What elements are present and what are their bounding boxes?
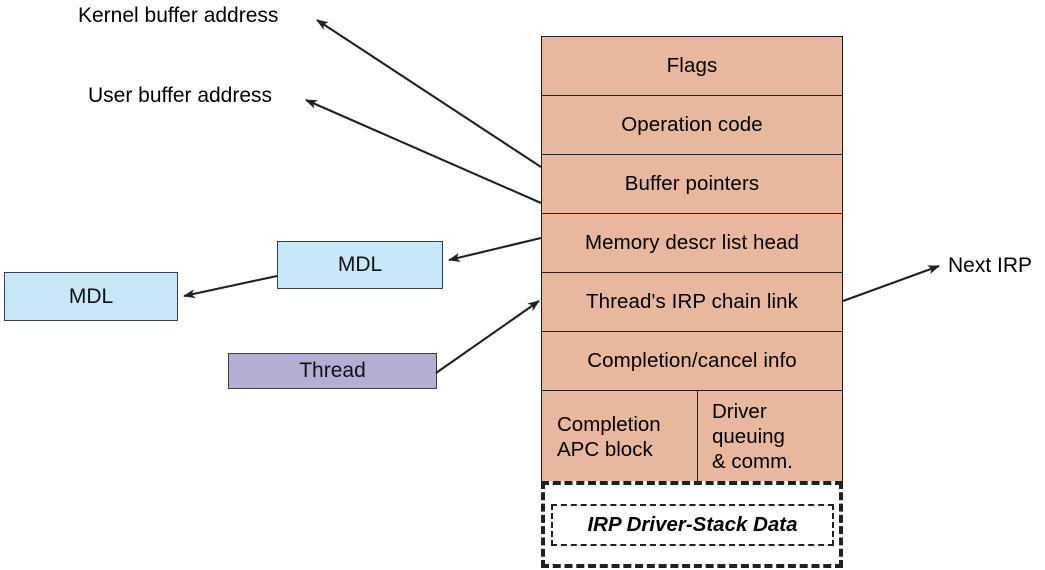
mdl-box-right: MDL — [277, 241, 443, 289]
driver-queuing-line1: Driver — [712, 399, 793, 424]
completion-apc-block-line1: Completion — [557, 412, 661, 437]
diagram-canvas: Flags Operation code Buffer pointers Mem… — [0, 0, 1045, 570]
mdl-box-right-label: MDL — [338, 253, 382, 277]
driver-queuing-line3: & comm. — [712, 449, 793, 474]
user-buffer-address-label: User buffer address — [88, 84, 272, 108]
irp-field-operation-code: Operation code — [541, 95, 843, 154]
mdl-box-left: MDL — [4, 272, 178, 321]
irp-field-completion-apc-block: Completion APC block — [542, 391, 698, 482]
arrow-memory-descr-list-head-to-mdl — [449, 238, 541, 260]
irp-field-thread-irp-chain-link: Thread's IRP chain link — [541, 272, 843, 331]
next-irp-label: Next IRP — [948, 254, 1032, 278]
arrow-thread-irp-chain-link-to-next-irp — [843, 266, 939, 301]
irp-driver-stack-data-box: IRP Driver-Stack Data — [551, 504, 834, 546]
irp-driver-stack-data-label: IRP Driver-Stack Data — [587, 513, 797, 537]
irp-field-memory-descr-list-head-label: Memory descr list head — [585, 231, 799, 255]
irp-field-buffer-pointers: Buffer pointers — [541, 154, 843, 213]
irp-field-completion-cancel-info: Completion/cancel info — [541, 331, 843, 390]
irp-field-driver-queuing-comm: Driver queuing & comm. — [698, 391, 842, 482]
arrow-thread-to-thread-irp-chain-link — [436, 301, 539, 373]
thread-box-label: Thread — [299, 359, 366, 383]
mdl-box-left-label: MDL — [69, 285, 113, 309]
completion-apc-block-line2: APC block — [557, 437, 661, 462]
thread-box: Thread — [228, 353, 437, 389]
kernel-buffer-address-label: Kernel buffer address — [78, 4, 278, 28]
arrow-buffer-pointers-to-kernel-buffer-address — [317, 20, 541, 167]
irp-field-buffer-pointers-label: Buffer pointers — [625, 172, 759, 196]
driver-queuing-line2: queuing — [712, 424, 793, 449]
irp-field-split-row: Completion APC block Driver queuing & co… — [541, 390, 843, 483]
irp-field-flags-label: Flags — [667, 54, 718, 78]
irp-structure: Flags Operation code Buffer pointers Mem… — [541, 36, 843, 483]
irp-field-thread-irp-chain-link-label: Thread's IRP chain link — [586, 290, 798, 314]
irp-field-operation-code-label: Operation code — [621, 113, 763, 137]
irp-field-flags: Flags — [541, 36, 843, 95]
arrow-buffer-pointers-to-user-buffer-address — [306, 100, 541, 203]
irp-field-completion-cancel-info-label: Completion/cancel info — [587, 349, 797, 373]
arrow-mdl-to-mdl — [184, 276, 277, 296]
irp-field-memory-descr-list-head: Memory descr list head — [541, 213, 843, 272]
